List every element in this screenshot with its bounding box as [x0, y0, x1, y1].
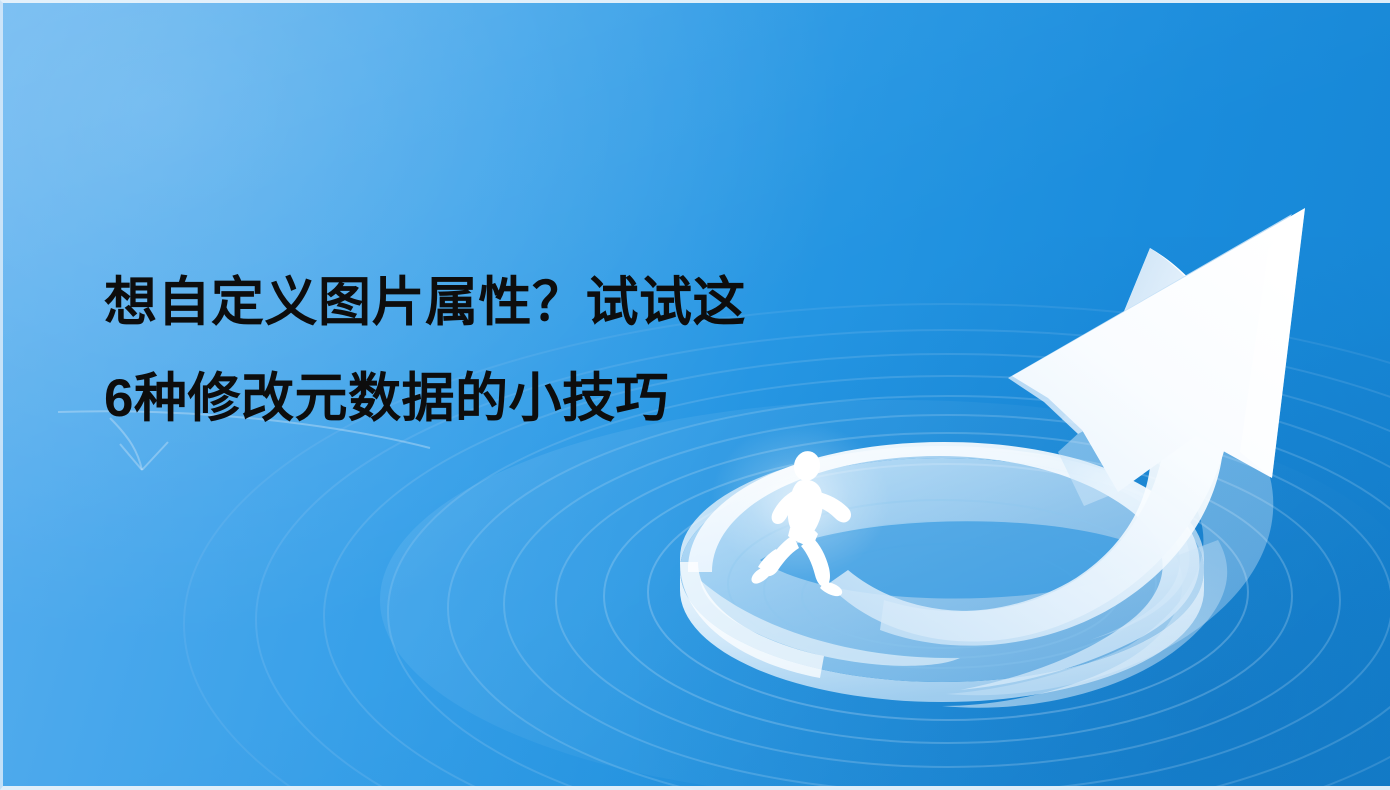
title-line-1: 想自定义图片属性？试试这	[104, 255, 904, 351]
page-title: 想自定义图片属性？试试这 6种修改元数据的小技巧	[104, 255, 904, 447]
title-line-2: 6种修改元数据的小技巧	[104, 351, 904, 447]
slide-canvas: 想自定义图片属性？试试这 6种修改元数据的小技巧	[0, 0, 1390, 790]
